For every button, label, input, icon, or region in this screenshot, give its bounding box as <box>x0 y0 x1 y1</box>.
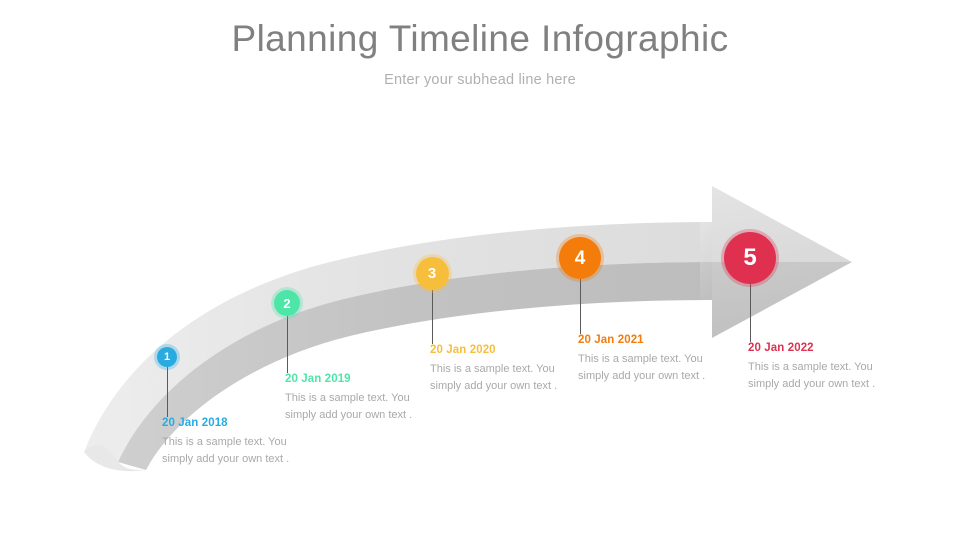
timeline-stem-4 <box>580 279 581 334</box>
page-title: Planning Timeline Infographic <box>0 16 960 62</box>
timeline-marker-3[interactable]: 3 <box>416 257 449 290</box>
timeline-date-4: 20 Jan 2021 <box>578 334 730 346</box>
timeline-body-1: This is a sample text. You simply add yo… <box>162 434 314 467</box>
timeline-marker-5[interactable]: 5 <box>724 232 776 284</box>
timeline-stem-3 <box>432 289 433 344</box>
timeline-date-3: 20 Jan 2020 <box>430 344 582 356</box>
arrow-tail-tip <box>84 445 146 471</box>
timeline-caption-5: 20 Jan 2022 This is a sample text. You s… <box>748 342 900 392</box>
timeline-marker-1[interactable]: 1 <box>157 347 177 367</box>
timeline-marker-2[interactable]: 2 <box>274 290 300 316</box>
marker-number-2: 2 <box>283 297 290 310</box>
timeline-date-2: 20 Jan 2019 <box>285 373 437 385</box>
marker-number-1: 1 <box>164 352 170 363</box>
arrow-head-shoulder-dark <box>700 262 712 300</box>
timeline-body-3: This is a sample text. You simply add yo… <box>430 361 582 394</box>
timeline-stem-5 <box>750 284 751 342</box>
marker-number-4: 4 <box>575 249 586 268</box>
timeline-marker-4[interactable]: 4 <box>559 237 601 279</box>
timeline-caption-1: 20 Jan 2018 This is a sample text. You s… <box>162 417 314 467</box>
timeline-caption-3: 20 Jan 2020 This is a sample text. You s… <box>430 344 582 394</box>
arrow-head-shoulder-light <box>700 222 712 262</box>
timeline-caption-4: 20 Jan 2021 This is a sample text. You s… <box>578 334 730 384</box>
marker-number-5: 5 <box>743 246 756 270</box>
header: Planning Timeline Infographic Enter your… <box>0 16 960 88</box>
page-subtitle: Enter your subhead line here <box>0 72 960 88</box>
timeline-stem-1 <box>167 367 168 417</box>
timeline-stem-2 <box>287 316 288 373</box>
timeline-body-2: This is a sample text. You simply add yo… <box>285 390 437 423</box>
timeline-date-5: 20 Jan 2022 <box>748 342 900 354</box>
timeline-body-5: This is a sample text. You simply add yo… <box>748 359 900 392</box>
timeline-body-4: This is a sample text. You simply add yo… <box>578 351 730 384</box>
marker-number-3: 3 <box>428 266 436 281</box>
timeline-caption-2: 20 Jan 2019 This is a sample text. You s… <box>285 373 437 423</box>
